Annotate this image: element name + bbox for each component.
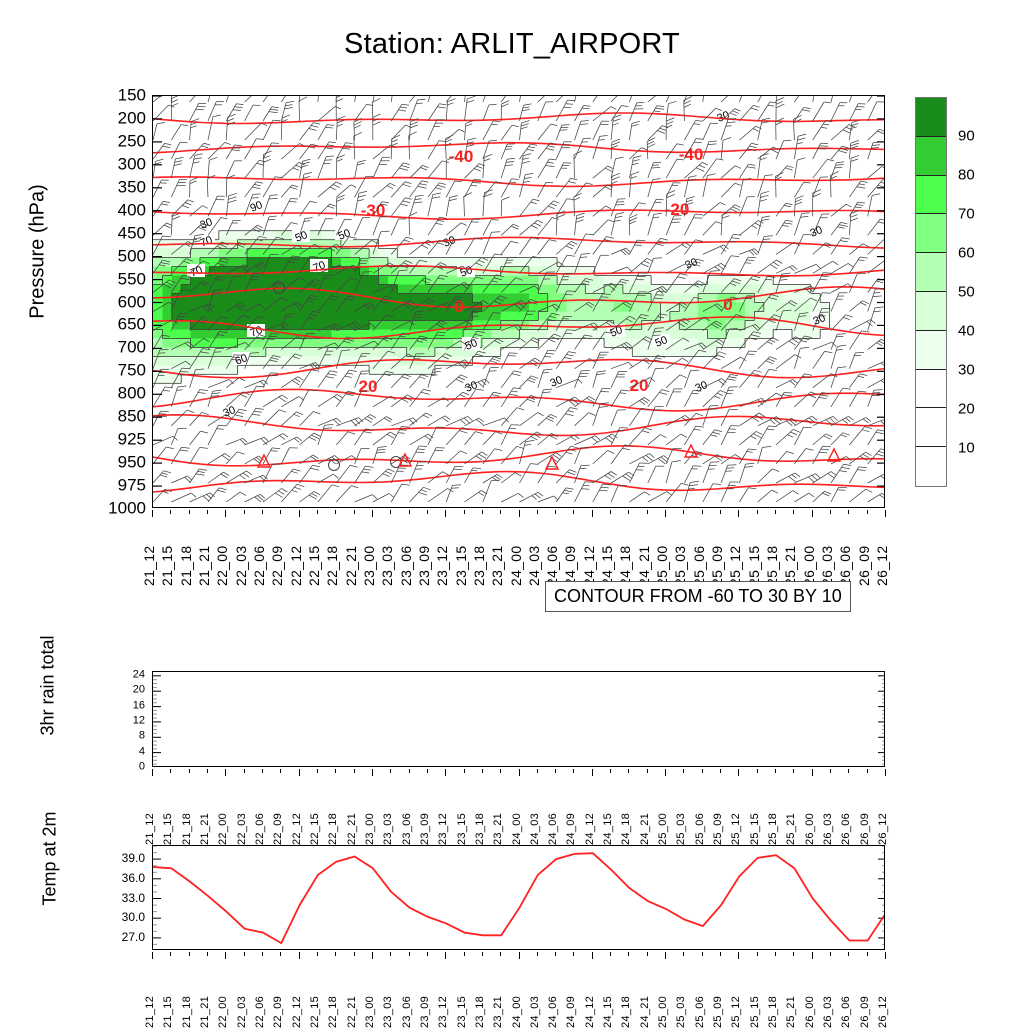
time-tickmark <box>427 952 428 956</box>
time-tickmark <box>628 510 629 514</box>
time-tickmark <box>372 769 373 776</box>
time-tickmark <box>738 769 739 776</box>
time-tickmark <box>555 952 556 956</box>
time-tickmark <box>354 769 355 773</box>
colorbar-label-70: 70 <box>958 206 975 223</box>
time-tick-23_15: 23_15 <box>456 813 468 845</box>
time-tickmark <box>390 510 391 514</box>
time-tick-23_06: 23_06 <box>401 813 413 845</box>
time-tick-23_03: 23_03 <box>382 813 394 845</box>
rain-panel-y-axis: 24201612840 <box>105 671 145 767</box>
colorbar-segment-2 <box>916 176 946 215</box>
time-tickmark <box>390 769 391 773</box>
rain-tick-0: 0 <box>105 762 145 773</box>
time-tick-23_03: 23_03 <box>379 546 395 586</box>
pressure-tick-750: 750 <box>100 362 146 379</box>
pressure-tick-600: 600 <box>100 293 146 310</box>
time-tickmark <box>464 769 465 773</box>
time-tick-25_00: 25_00 <box>654 546 670 586</box>
rain-tick-16: 16 <box>105 700 145 711</box>
pressure-tick-850: 850 <box>100 408 146 425</box>
time-tickmark <box>427 510 428 514</box>
time-tick-22_15: 22_15 <box>306 546 322 586</box>
pressure-tick-450: 450 <box>100 224 146 241</box>
time-tickmark <box>299 769 300 776</box>
time-tickmark <box>152 769 153 776</box>
time-tickmark <box>262 769 263 773</box>
time-tick-24_06: 24_06 <box>544 546 560 586</box>
time-tick-25_09: 25_09 <box>712 996 724 1028</box>
time-tickmark <box>317 952 318 956</box>
time-tickmark <box>335 769 336 773</box>
time-tick-23_09: 23_09 <box>419 813 431 845</box>
time-tickmark <box>702 769 703 773</box>
time-tick-23_09: 23_09 <box>416 546 432 586</box>
time-tickmark <box>244 952 245 956</box>
time-tickmark <box>170 510 171 514</box>
time-tickmark <box>170 952 171 956</box>
colorbar-label-50: 50 <box>958 284 975 301</box>
time-tickmark <box>207 510 208 514</box>
time-tick-22_18: 22_18 <box>324 546 340 586</box>
time-tickmark <box>555 510 556 514</box>
time-tick-22_00: 22_00 <box>214 546 230 586</box>
time-tick-26_06: 26_06 <box>837 546 853 586</box>
time-tick-24_03: 24_03 <box>529 996 541 1028</box>
colorbar-segment-9 <box>916 447 946 486</box>
time-tickmark <box>280 952 281 956</box>
time-tickmark <box>409 510 410 514</box>
pressure-tick-350: 350 <box>100 178 146 195</box>
time-tickmark <box>500 769 501 773</box>
pressure-tick-400: 400 <box>100 201 146 218</box>
pressure-tick-250: 250 <box>100 132 146 149</box>
time-tickmark <box>757 769 758 773</box>
pressure-tick-500: 500 <box>100 247 146 264</box>
colorbar-segment-1 <box>916 137 946 176</box>
time-tick-22_00: 22_00 <box>217 813 229 845</box>
pressure-tick-950: 950 <box>100 454 146 471</box>
time-tickmark <box>573 769 574 773</box>
time-tick-26_00: 26_00 <box>804 813 816 845</box>
time-tickmark <box>482 952 483 956</box>
time-tickmark <box>555 769 556 773</box>
pressure-tick-925: 925 <box>100 431 146 448</box>
time-tickmark <box>683 510 684 514</box>
time-tick-23_15: 23_15 <box>456 996 468 1028</box>
time-tickmark <box>812 769 813 776</box>
pressure-tick-650: 650 <box>100 316 146 333</box>
time-tick-22_09: 22_09 <box>269 546 285 586</box>
time-tickmark <box>427 769 428 773</box>
rain-tick-20: 20 <box>105 685 145 696</box>
time-tickmark <box>683 769 684 773</box>
time-tick-25_12: 25_12 <box>730 813 742 845</box>
time-tick-25_21: 25_21 <box>785 813 797 845</box>
time-tickmark <box>738 510 739 517</box>
pressure-tick-300: 300 <box>100 155 146 172</box>
time-tickmark <box>409 769 410 773</box>
time-tickmark <box>152 952 153 959</box>
colorbar-segment-3 <box>916 214 946 253</box>
rain-panel-x-axis: 21_1221_1521_1821_2122_0022_0322_0622_09… <box>152 769 885 845</box>
time-tick-24_12: 24_12 <box>581 546 597 586</box>
time-tickmark <box>610 952 611 956</box>
time-tickmark <box>482 510 483 514</box>
time-tick-22_15: 22_15 <box>309 813 321 845</box>
time-tickmark <box>207 769 208 773</box>
time-tick-24_18: 24_18 <box>617 546 633 586</box>
time-tick-25_21: 25_21 <box>785 996 797 1028</box>
time-tick-26_12: 26_12 <box>877 996 889 1028</box>
time-tick-21_12: 21_12 <box>144 996 156 1028</box>
time-tickmark <box>885 769 886 776</box>
temp-tick-33.0: 33.0 <box>95 892 145 904</box>
time-tickmark <box>592 769 593 776</box>
time-tickmark <box>610 510 611 514</box>
time-tick-23_18: 23_18 <box>471 546 487 586</box>
time-tickmark <box>354 510 355 514</box>
time-tick-22_21: 22_21 <box>346 813 358 845</box>
time-tick-25_03: 25_03 <box>675 813 687 845</box>
rh-colorbar <box>915 97 947 487</box>
time-tickmark <box>482 769 483 773</box>
time-tickmark <box>628 769 629 773</box>
time-tick-21_12: 21_12 <box>141 546 157 586</box>
time-tickmark <box>793 952 794 956</box>
time-tick-21_15: 21_15 <box>162 813 174 845</box>
colorbar-segment-5 <box>916 292 946 331</box>
time-tick-26_03: 26_03 <box>822 996 834 1028</box>
pressure-tick-200: 200 <box>100 109 146 126</box>
time-tick-22_00: 22_00 <box>217 996 229 1028</box>
time-tickmark <box>189 510 190 514</box>
time-tick-26_06: 26_06 <box>840 813 852 845</box>
time-tick-22_03: 22_03 <box>236 996 248 1028</box>
time-tick-25_06: 25_06 <box>694 996 706 1028</box>
time-tick-21_21: 21_21 <box>199 813 211 845</box>
time-tick-24_09: 24_09 <box>562 546 578 586</box>
time-tick-22_18: 22_18 <box>327 813 339 845</box>
time-tick-23_00: 23_00 <box>361 546 377 586</box>
time-tickmark <box>317 769 318 773</box>
time-tick-25_15: 25_15 <box>749 813 761 845</box>
time-tick-21_18: 21_18 <box>181 996 193 1028</box>
colorbar-segment-7 <box>916 370 946 409</box>
time-tickmark <box>720 952 721 956</box>
time-tickmark <box>500 952 501 956</box>
time-tick-26_09: 26_09 <box>859 996 871 1028</box>
time-tick-26_00: 26_00 <box>801 546 817 586</box>
time-tickmark <box>573 510 574 514</box>
time-tick-25_09: 25_09 <box>709 546 725 586</box>
time-tick-22_21: 22_21 <box>343 546 359 586</box>
time-tickmark <box>757 952 758 956</box>
time-tickmark <box>519 510 520 517</box>
time-tick-24_12: 24_12 <box>584 813 596 845</box>
time-tick-26_03: 26_03 <box>822 813 834 845</box>
time-tickmark <box>280 769 281 773</box>
time-tickmark <box>647 510 648 514</box>
time-tick-26_09: 26_09 <box>859 813 871 845</box>
time-tick-21_21: 21_21 <box>196 546 212 586</box>
rain-tick-12: 12 <box>105 715 145 726</box>
time-tick-25_06: 25_06 <box>694 813 706 845</box>
time-tickmark <box>537 769 538 773</box>
time-tick-25_09: 25_09 <box>712 813 724 845</box>
rain-tick-4: 4 <box>105 746 145 757</box>
time-tick-25_03: 25_03 <box>675 996 687 1028</box>
time-tick-25_15: 25_15 <box>749 996 761 1028</box>
colorbar-segment-8 <box>916 408 946 447</box>
main-panel-x-axis: 21_1221_1521_1821_2122_0022_0322_0622_09… <box>152 510 885 586</box>
temp-panel-x-axis: 21_1221_1521_1821_2122_0022_0322_0622_09… <box>152 952 885 1028</box>
time-tick-24_21: 24_21 <box>636 546 652 586</box>
time-tickmark <box>335 952 336 956</box>
temp-tick-36.0: 36.0 <box>95 872 145 884</box>
time-tick-25_18: 25_18 <box>767 996 779 1028</box>
time-tick-22_15: 22_15 <box>309 996 321 1028</box>
time-tickmark <box>335 510 336 514</box>
colorbar-segment-0 <box>916 98 946 137</box>
pressure-tick-550: 550 <box>100 270 146 287</box>
rain-tick-24: 24 <box>105 669 145 680</box>
svg-text:20: 20 <box>359 377 378 396</box>
pressure-tick-150: 150 <box>100 87 146 104</box>
time-tickmark <box>262 952 263 956</box>
time-tick-24_18: 24_18 <box>620 996 632 1028</box>
time-tick-25_06: 25_06 <box>691 546 707 586</box>
time-tick-24_12: 24_12 <box>584 996 596 1028</box>
time-tick-22_12: 22_12 <box>291 996 303 1028</box>
time-tickmark <box>225 510 226 517</box>
time-tick-22_09: 22_09 <box>272 813 284 845</box>
svg-text:20: 20 <box>630 376 649 395</box>
time-tick-23_18: 23_18 <box>474 996 486 1028</box>
time-tick-25_00: 25_00 <box>657 813 669 845</box>
time-tickmark <box>610 769 611 773</box>
time-tick-22_06: 22_06 <box>254 996 266 1028</box>
time-tickmark <box>775 510 776 514</box>
pressure-tick-700: 700 <box>100 339 146 356</box>
temp-panel-y-axis: 39.036.033.030.027.0 <box>95 845 145 950</box>
time-tick-23_15: 23_15 <box>453 546 469 586</box>
time-tick-25_12: 25_12 <box>727 546 743 586</box>
temp-tick-39.0: 39.0 <box>95 852 145 864</box>
time-tick-22_18: 22_18 <box>327 996 339 1028</box>
time-tickmark <box>812 510 813 517</box>
time-tickmark <box>702 952 703 956</box>
time-tick-21_15: 21_15 <box>159 546 175 586</box>
time-tick-24_21: 24_21 <box>639 813 651 845</box>
time-tickmark <box>262 510 263 514</box>
time-tick-24_06: 24_06 <box>547 813 559 845</box>
time-tickmark <box>702 510 703 514</box>
time-tickmark <box>793 769 794 773</box>
time-tick-24_15: 24_15 <box>599 546 615 586</box>
time-tickmark <box>207 952 208 956</box>
time-tick-22_06: 22_06 <box>251 546 267 586</box>
time-tickmark <box>519 769 520 776</box>
time-tickmark <box>519 952 520 959</box>
time-tick-22_21: 22_21 <box>346 996 358 1028</box>
time-tick-23_06: 23_06 <box>398 546 414 586</box>
time-tickmark <box>372 952 373 959</box>
rain-panel-ylabel: 3hr rain total <box>38 611 59 761</box>
time-tickmark <box>537 952 538 956</box>
temp-canvas <box>153 846 885 950</box>
time-tick-24_00: 24_00 <box>508 546 524 586</box>
time-tick-24_03: 24_03 <box>529 813 541 845</box>
time-tick-24_15: 24_15 <box>602 996 614 1028</box>
time-tickmark <box>848 510 849 514</box>
colorbar-segment-6 <box>916 331 946 370</box>
time-tick-21_12: 21_12 <box>144 813 156 845</box>
colorbar-label-90: 90 <box>958 128 975 145</box>
time-tick-23_00: 23_00 <box>364 996 376 1028</box>
colorbar-label-40: 40 <box>958 323 975 340</box>
page-title: Station: ARLIT_AIRPORT <box>0 28 1024 61</box>
time-tick-25_18: 25_18 <box>764 546 780 586</box>
pressure-tick-975: 975 <box>100 477 146 494</box>
time-tick-26_12: 26_12 <box>877 813 889 845</box>
time-tick-24_09: 24_09 <box>565 813 577 845</box>
time-tickmark <box>244 769 245 773</box>
time-tickmark <box>170 769 171 773</box>
time-tickmark <box>830 769 831 773</box>
time-tick-23_21: 23_21 <box>492 996 504 1028</box>
time-tick-22_12: 22_12 <box>291 813 303 845</box>
time-tick-23_09: 23_09 <box>419 996 431 1028</box>
time-tickmark <box>592 952 593 959</box>
colorbar-label-20: 20 <box>958 401 975 418</box>
time-tick-24_00: 24_00 <box>511 996 523 1028</box>
time-tickmark <box>592 510 593 517</box>
temp-tick-27.0: 27.0 <box>95 931 145 943</box>
time-tickmark <box>152 510 153 517</box>
time-tickmark <box>867 952 868 956</box>
colorbar-label-60: 60 <box>958 245 975 262</box>
time-tick-23_12: 23_12 <box>437 996 449 1028</box>
time-tick-22_12: 22_12 <box>288 546 304 586</box>
time-tickmark <box>189 952 190 956</box>
sounding-plot[interactable]: 3050707070706050503050305030303090303030… <box>152 95 885 508</box>
time-tickmark <box>720 510 721 514</box>
time-tickmark <box>409 952 410 956</box>
time-tick-23_12: 23_12 <box>434 546 450 586</box>
time-tickmark <box>464 952 465 956</box>
pressure-tick-1000: 1000 <box>100 500 146 517</box>
main-panel-y-axis: 1502002503003504004505005506006507007508… <box>96 95 146 508</box>
time-tick-25_03: 25_03 <box>672 546 688 586</box>
time-tickmark <box>885 952 886 959</box>
rain-tick-8: 8 <box>105 731 145 742</box>
colorbar-label-30: 30 <box>958 362 975 379</box>
time-tickmark <box>647 769 648 773</box>
time-tick-21_15: 21_15 <box>162 996 174 1028</box>
time-tick-25_12: 25_12 <box>730 996 742 1028</box>
time-tickmark <box>848 952 849 956</box>
time-tickmark <box>812 952 813 959</box>
time-tickmark <box>775 952 776 956</box>
time-tick-26_09: 26_09 <box>856 546 872 586</box>
time-tickmark <box>830 510 831 514</box>
colorbar-segment-4 <box>916 253 946 292</box>
time-tickmark <box>390 952 391 956</box>
time-tickmark <box>354 952 355 956</box>
time-tick-25_15: 25_15 <box>746 546 762 586</box>
time-tickmark <box>665 769 666 776</box>
time-tickmark <box>683 952 684 956</box>
time-tick-23_03: 23_03 <box>382 996 394 1028</box>
time-tickmark <box>280 510 281 514</box>
svg-text:-40: -40 <box>449 147 474 166</box>
svg-text:0: 0 <box>723 295 732 314</box>
time-tickmark <box>867 510 868 514</box>
time-tickmark <box>537 510 538 514</box>
time-tickmark <box>225 769 226 776</box>
time-tickmark <box>317 510 318 514</box>
time-tick-24_06: 24_06 <box>547 996 559 1028</box>
temp-plot[interactable] <box>152 845 885 950</box>
time-tick-26_06: 26_06 <box>840 996 852 1028</box>
time-tick-24_00: 24_00 <box>511 813 523 845</box>
time-tickmark <box>299 510 300 517</box>
time-tickmark <box>885 510 886 517</box>
time-tickmark <box>830 952 831 956</box>
time-tick-23_12: 23_12 <box>437 813 449 845</box>
time-tick-23_00: 23_00 <box>364 813 376 845</box>
rain-plot[interactable] <box>152 671 885 767</box>
time-tickmark <box>225 952 226 959</box>
colorbar-label-80: 80 <box>958 167 975 184</box>
time-tickmark <box>867 769 868 773</box>
time-tickmark <box>573 952 574 956</box>
time-tick-25_21: 25_21 <box>782 546 798 586</box>
pressure-tick-800: 800 <box>100 385 146 402</box>
time-tickmark <box>372 510 373 517</box>
time-tick-21_18: 21_18 <box>181 813 193 845</box>
time-tick-24_03: 24_03 <box>526 546 542 586</box>
time-tick-26_12: 26_12 <box>874 546 890 586</box>
time-tickmark <box>445 769 446 776</box>
sounding-canvas: 3050707070706050503050305030303090303030… <box>153 96 885 508</box>
time-tick-24_21: 24_21 <box>639 996 651 1028</box>
time-tick-25_18: 25_18 <box>767 813 779 845</box>
time-tick-24_09: 24_09 <box>565 996 577 1028</box>
time-tick-26_00: 26_00 <box>804 996 816 1028</box>
time-tick-23_21: 23_21 <box>489 546 505 586</box>
time-tick-22_06: 22_06 <box>254 813 266 845</box>
time-tickmark <box>189 769 190 773</box>
time-tickmark <box>244 510 245 514</box>
time-tick-23_18: 23_18 <box>474 813 486 845</box>
time-tick-24_18: 24_18 <box>620 813 632 845</box>
time-tick-21_21: 21_21 <box>199 996 211 1028</box>
time-tickmark <box>445 952 446 959</box>
colorbar-label-10: 10 <box>958 440 975 457</box>
time-tick-25_00: 25_00 <box>657 996 669 1028</box>
temp-panel-ylabel: Temp at 2m <box>40 779 61 939</box>
time-tickmark <box>757 510 758 514</box>
temp-tick-30.0: 30.0 <box>95 911 145 923</box>
time-tickmark <box>720 769 721 773</box>
time-tickmark <box>647 952 648 956</box>
time-tickmark <box>665 510 666 517</box>
time-tickmark <box>445 510 446 517</box>
main-panel-ylabel: Pressure (hPa) <box>27 122 50 382</box>
time-tick-24_15: 24_15 <box>602 813 614 845</box>
